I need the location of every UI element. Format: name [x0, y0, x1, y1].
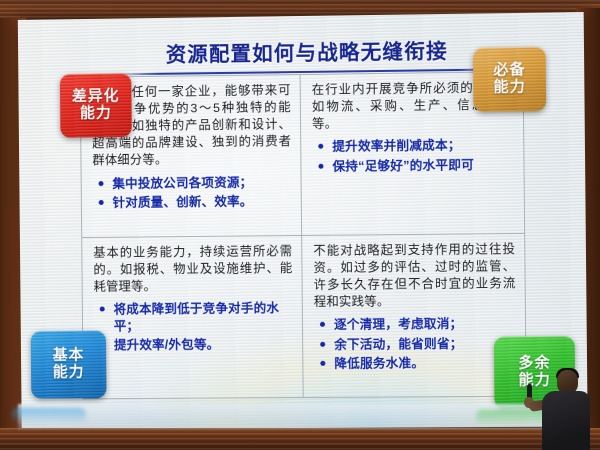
list-item: 集中投放公司各项资源； [96, 174, 291, 192]
quadrant-bullet-list: 集中投放公司各项资源； 针对质量、创新、效率。 [93, 174, 292, 212]
wood-wall-bottom [0, 428, 600, 450]
reflection-basic-badge [12, 408, 86, 424]
conference-room-photo: 资源配置如何与战略无缝衔接 有别于任何一家企业，能够带来可持续竞争优势的3～5种… [0, 0, 600, 450]
page-title: 资源配置如何与战略无缝衔接 [127, 31, 487, 70]
quadrant-paragraph: 基本的业务能力，持续运营所必需的。如报税、物业及设施维护、能耗管理等。 [93, 243, 293, 296]
quadrant-basic: 基本的业务能力，持续运营所必需的。如报税、物业及设施维护、能耗管理等。 将成本降… [82, 236, 303, 398]
badge-line-2: 能力 [493, 79, 525, 96]
badge-line-1: 差异化 [72, 88, 120, 105]
quadrant-bullet-list: 逐个清理，考虑取消； 余下活动，能省则省； 降低服务水准。 [314, 316, 516, 373]
badge-basic: 基本 能力 [31, 330, 107, 398]
list-item: 余下活动，能省则省； [318, 335, 516, 353]
badge-differentiating: 差异化 能力 [60, 73, 132, 138]
quadrant-bullet-list: 提升效率并削减成本； 保持“足够好”的水平即可 [312, 137, 514, 175]
list-item: 提升效率/外包等。 [98, 336, 293, 354]
presenter-body [542, 391, 590, 450]
list-item: 降低服务水准。 [318, 355, 516, 373]
presenter-silhouette [526, 366, 592, 450]
quadrant-bullet-list: 将成本降到低于竞争对手的水平； 提升效率/外包等。 [94, 300, 294, 353]
list-item: 针对质量、创新、效率。 [97, 193, 292, 211]
quadrant-paragraph: 不能对战略起到支持作用的过往投资。如过多的评估、过时的监管、许多长久存在但不合时… [313, 241, 516, 311]
list-item: 提升效率并削减成本； [316, 137, 514, 156]
badge-line-1: 必备 [493, 62, 525, 79]
list-item: 逐个清理，考虑取消； [318, 316, 516, 334]
badge-line-2: 能力 [53, 364, 85, 381]
badge-line-1: 基本 [53, 348, 85, 365]
badge-line-2: 能力 [80, 105, 112, 122]
badge-table-stakes: 必备 能力 [473, 47, 546, 112]
slide: 资源配置如何与战略无缝衔接 有别于任何一家企业，能够带来可持续竞争优势的3～5种… [18, 12, 588, 429]
list-item: 保持“足够好”的水平即可 [316, 156, 514, 175]
quadrant-surplus: 不能对战略起到支持作用的过往投资。如过多的评估、过时的监管、许多长久存在但不合时… [302, 234, 526, 397]
list-item: 将成本降到低于竞争对手的水平； [98, 300, 293, 334]
capability-matrix: 有别于任何一家企业，能够带来可持续竞争优势的3～5种独特的能力。例如独特的产品创… [80, 71, 527, 399]
projection-screen: 资源配置如何与战略无缝衔接 有别于任何一家企业，能够带来可持续竞争优势的3～5种… [18, 12, 588, 429]
